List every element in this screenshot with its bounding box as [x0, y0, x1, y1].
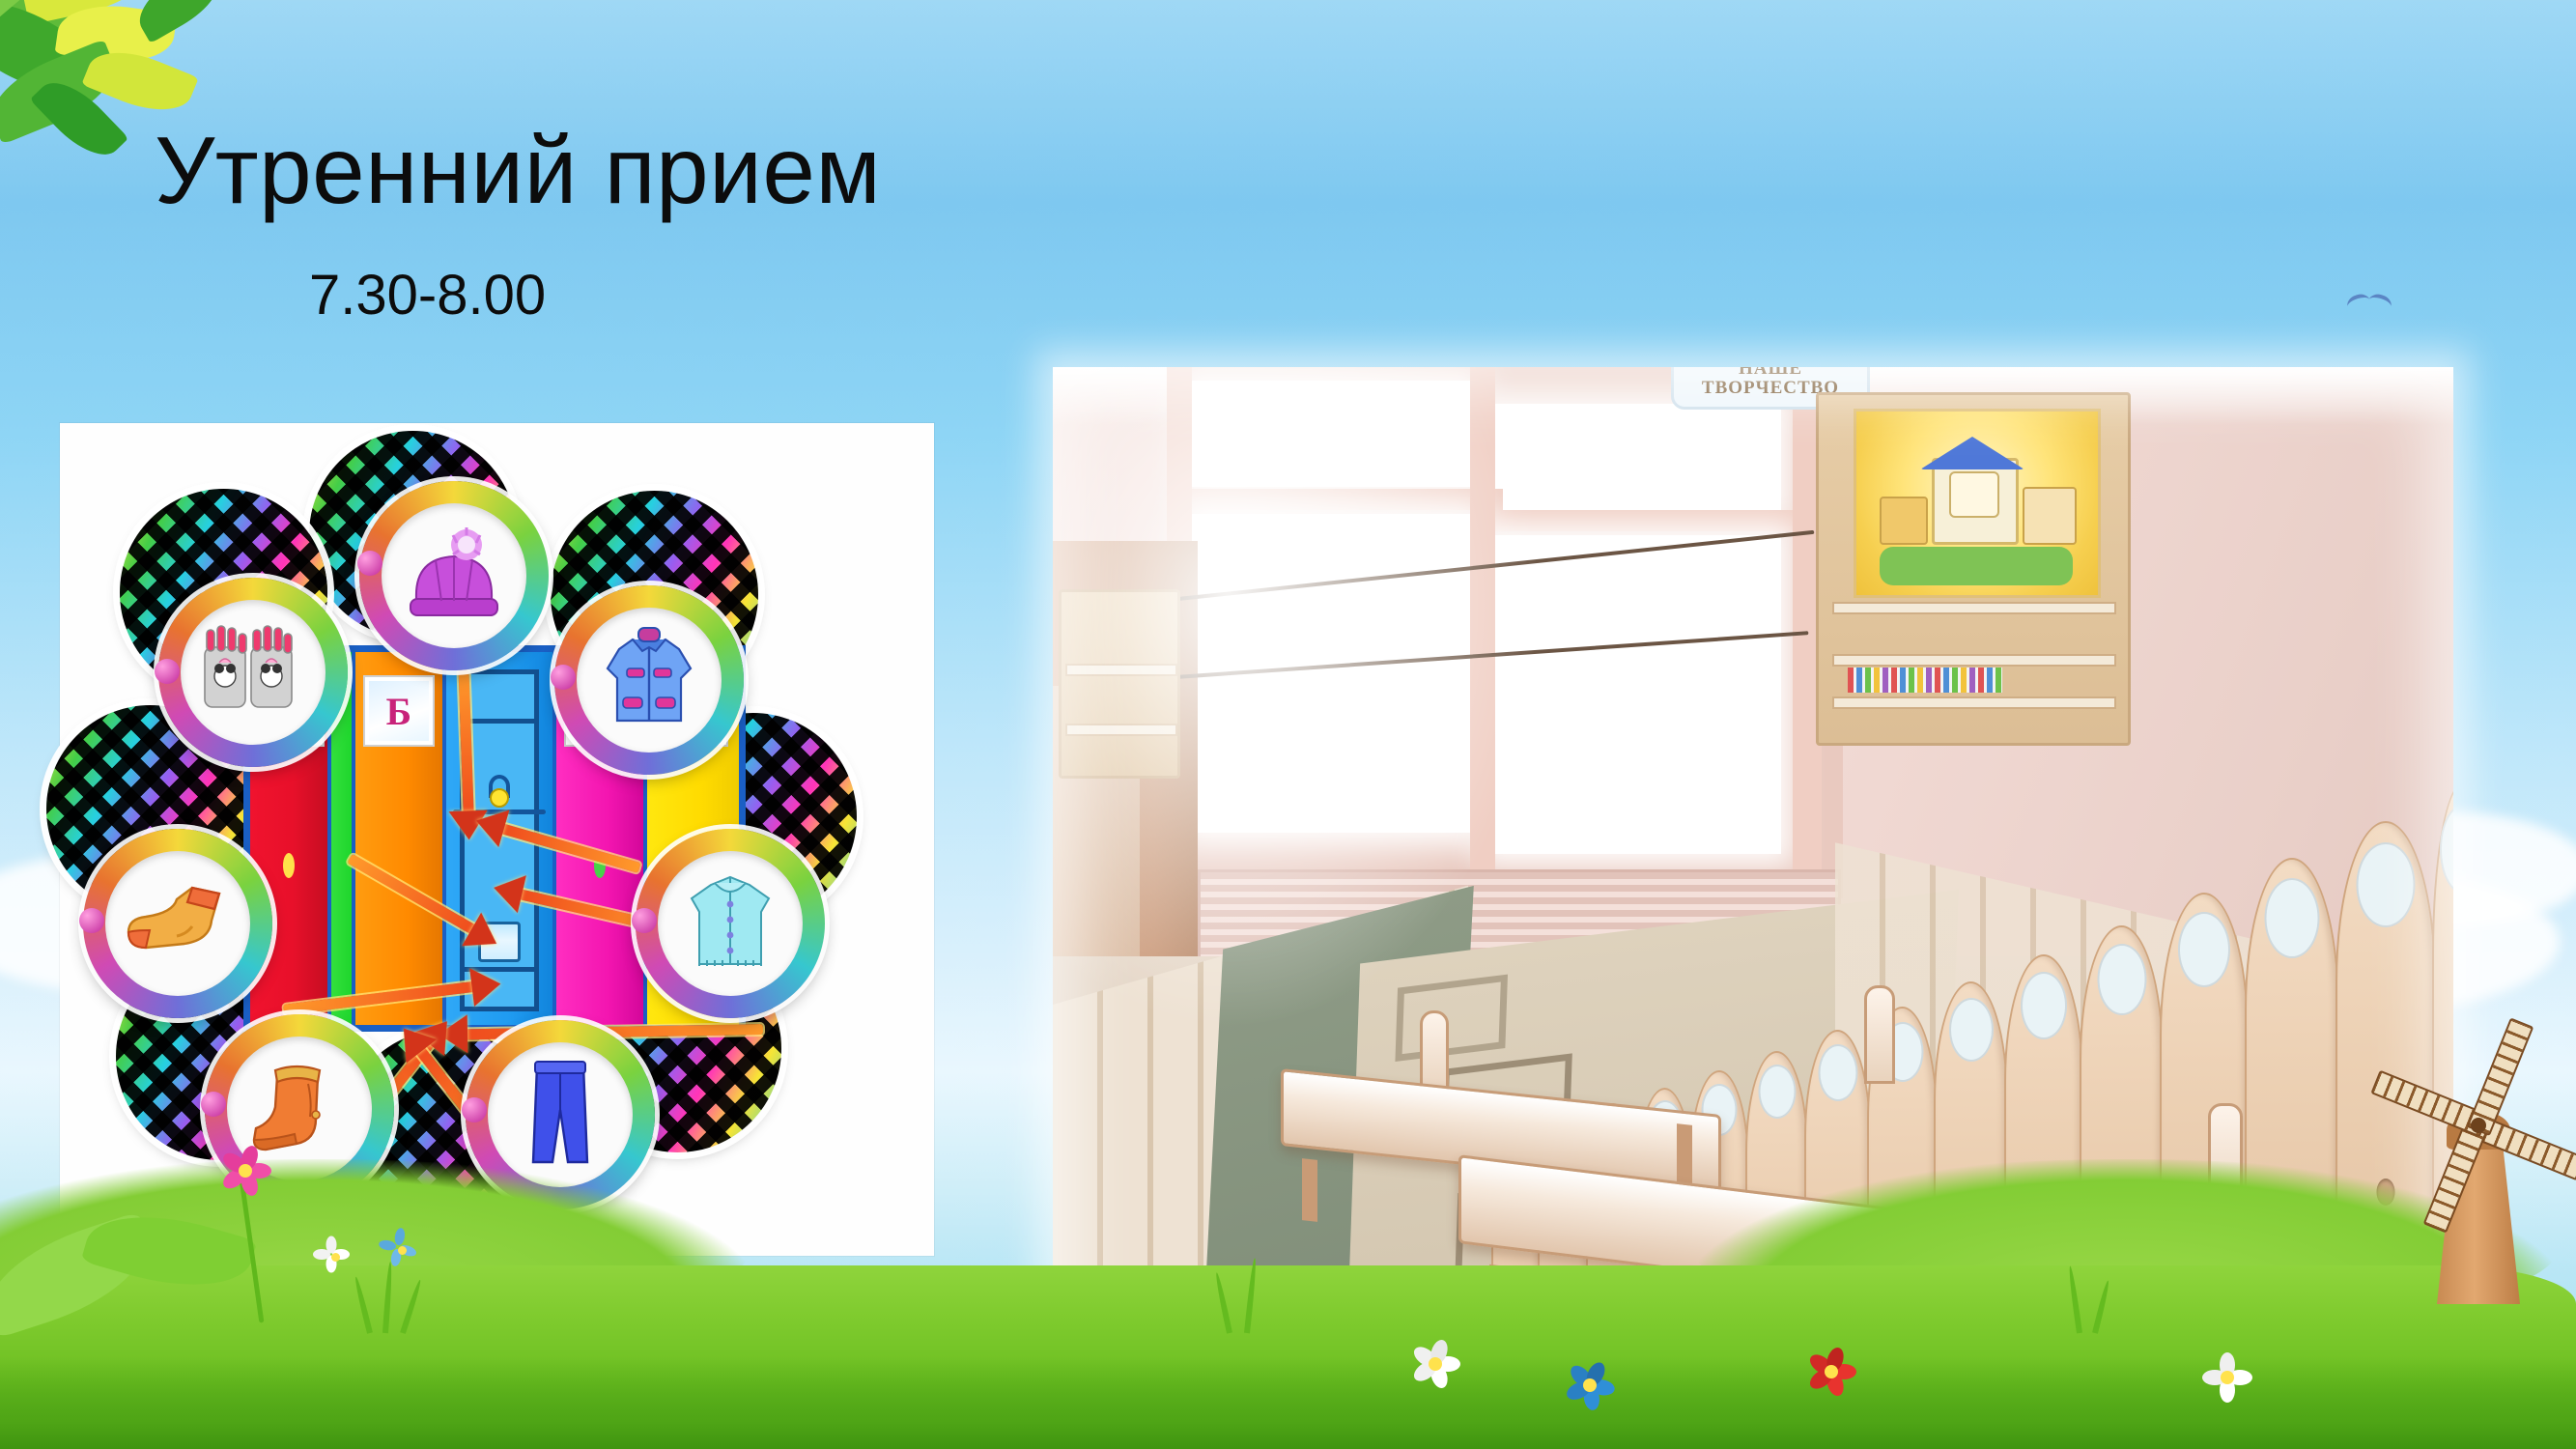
trousers-icon — [488, 1042, 633, 1187]
item-disc-hat[interactable] — [359, 481, 549, 670]
cardigan-icon — [658, 851, 803, 996]
photo-children-artwork — [1854, 409, 2101, 598]
item-disc-mittens[interactable] — [158, 578, 348, 767]
flower — [220, 1146, 270, 1196]
jacket-icon — [577, 608, 722, 753]
hat-icon — [382, 503, 526, 648]
flower — [1565, 1360, 1615, 1410]
photo-window-glow — [1053, 367, 1555, 1043]
flower — [1806, 1347, 1856, 1397]
photo-pencils — [1848, 668, 2002, 693]
item-disc-jacket[interactable] — [554, 585, 744, 775]
sock-icon — [105, 851, 250, 996]
photo-art-shelf-right — [1816, 392, 2131, 746]
dressing-diagram-card: А Б В Г — [60, 423, 934, 1256]
locker-door-b: Б — [355, 652, 445, 1025]
photo-bench-back — [1864, 985, 1895, 1084]
windmill-icon — [2377, 1072, 2570, 1304]
dressing-order-flower-diagram: А Б В Г — [60, 423, 934, 1256]
grass-strip-dark — [0, 1357, 2576, 1449]
item-disc-cardigan[interactable] — [636, 829, 825, 1018]
flower — [2202, 1352, 2252, 1403]
item-disc-sock[interactable] — [83, 829, 272, 1018]
flower — [384, 1233, 419, 1267]
slide-title: Утренний прием — [155, 116, 881, 225]
bird-icon — [2347, 295, 2392, 316]
mittens-icon — [181, 600, 326, 745]
locker-letter-tag: Б — [365, 677, 433, 745]
flower — [1410, 1339, 1460, 1389]
slide-subtitle: 7.30-8.00 — [309, 263, 546, 327]
flower — [319, 1240, 352, 1273]
